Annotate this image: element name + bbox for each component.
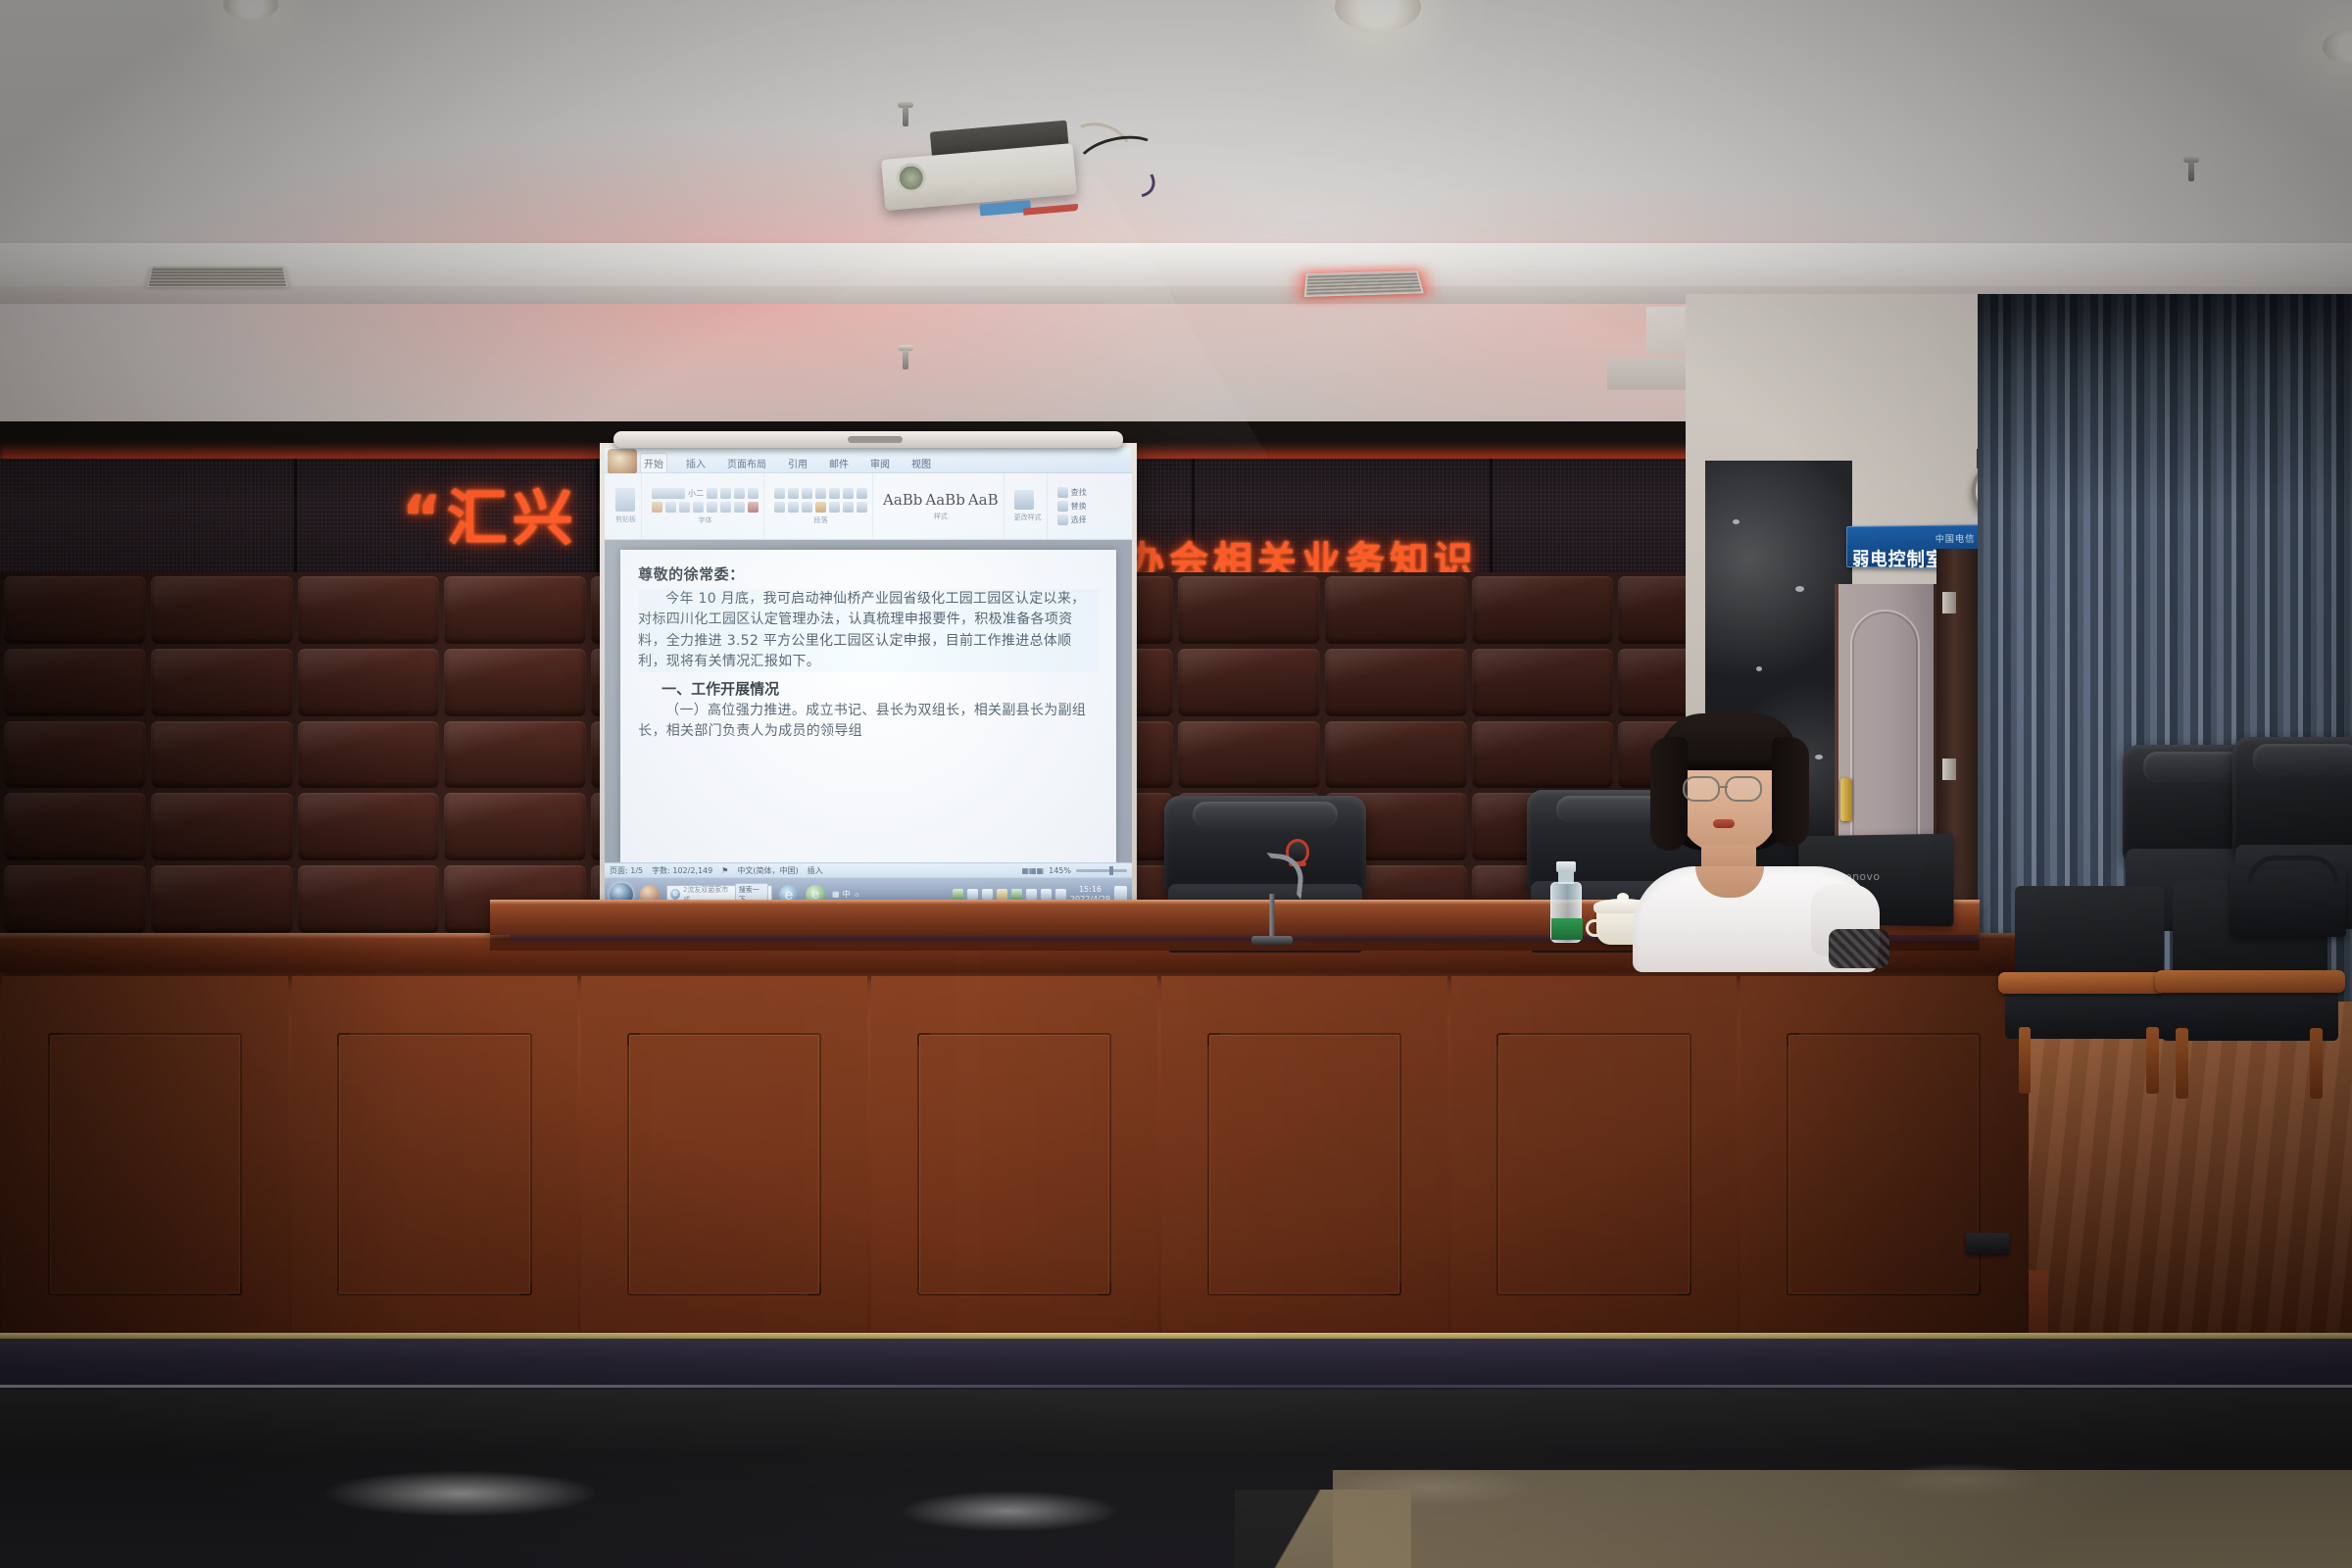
antivirus-icon[interactable] xyxy=(1011,889,1022,900)
projector-lens xyxy=(896,162,928,194)
dais-panel xyxy=(1161,976,1447,1331)
change-styles-row[interactable] xyxy=(1014,490,1042,510)
leather-panel xyxy=(444,793,586,860)
curtain-left-fold xyxy=(1958,372,1997,980)
dais-panel xyxy=(1451,976,1738,1331)
paragraph-bottom-row[interactable] xyxy=(774,502,867,513)
font-size-value[interactable]: 小二 xyxy=(688,488,704,499)
fire-sprinkler-head xyxy=(898,102,913,127)
sort-icon[interactable] xyxy=(843,488,854,499)
document-fade-overlay xyxy=(620,817,1116,862)
battery-icon[interactable] xyxy=(953,889,963,900)
marble-fleck xyxy=(1756,666,1762,671)
replace-row[interactable]: 替换 xyxy=(1057,501,1087,512)
armchair-wooden-armrest xyxy=(1998,972,2180,994)
group-label-clipboard: 剪贴板 xyxy=(615,514,636,524)
ie-small-icon: e xyxy=(670,889,680,900)
eyeglasses-left-lens xyxy=(1683,776,1720,802)
leather-panel xyxy=(1178,649,1320,716)
align-left-icon[interactable] xyxy=(774,502,785,513)
grow-font-icon[interactable] xyxy=(707,488,717,499)
leather-panel xyxy=(444,649,586,716)
projected-image: 开始 插入 页面布局 引用 邮件 审阅 视图 剪贴板 xyxy=(605,448,1132,910)
hvac-vent-grille xyxy=(1304,270,1424,297)
ribbon-group-styles: AaBb AaBb AaB 样式 xyxy=(878,473,1004,539)
change-styles-icon[interactable] xyxy=(1014,490,1034,510)
projection-screen-roller xyxy=(613,431,1123,448)
document-heading-1: 一、工作开展情况 xyxy=(661,678,1099,699)
leather-panel xyxy=(4,865,146,933)
leather-panel xyxy=(298,721,440,789)
status-zoom-level[interactable]: 145% xyxy=(1049,866,1071,875)
ribbon-tab-home[interactable]: 开始 xyxy=(640,453,667,472)
document-salutation: 尊敬的徐常委： xyxy=(638,563,1099,584)
text-highlight-icon[interactable] xyxy=(734,502,745,513)
leather-panel xyxy=(1472,649,1614,716)
change-case-icon[interactable] xyxy=(734,488,745,499)
ribbon-group-editing: 查找 替换 选择 xyxy=(1053,473,1092,539)
find-row[interactable]: 查找 xyxy=(1057,487,1087,498)
marble-fleck xyxy=(1795,586,1804,592)
led-panel-seam xyxy=(1490,459,1493,574)
status-language[interactable]: 中文(简体，中国) xyxy=(737,865,798,876)
group-label-font: 字体 xyxy=(652,515,759,525)
projection-screen: 开始 插入 页面布局 引用 邮件 审阅 视图 剪贴板 xyxy=(600,443,1137,915)
water-bottle[interactable] xyxy=(1550,862,1582,943)
ime-icon[interactable]: ▦ xyxy=(832,890,840,899)
ribbon-group-clipboard: 剪贴板 xyxy=(611,473,642,539)
ime-mode-indicator[interactable]: 中 xyxy=(843,889,851,900)
italic-icon[interactable] xyxy=(665,502,676,513)
status-view-controls: ▦▦▦ 145% xyxy=(1021,866,1127,875)
leather-panel xyxy=(1325,649,1467,716)
leather-panel xyxy=(4,649,146,716)
bullet-list-icon[interactable] xyxy=(774,488,785,499)
chair-backrest xyxy=(2232,737,2352,857)
status-page-number[interactable]: 页面: 1/5 xyxy=(610,865,643,876)
panel-inset xyxy=(917,1033,1111,1296)
font-name-box-icon[interactable] xyxy=(652,488,685,499)
replace-label[interactable]: 替换 xyxy=(1071,501,1087,512)
chair-headrest xyxy=(1193,802,1338,827)
subscript-icon[interactable] xyxy=(707,502,717,513)
style-normal[interactable]: AaBb xyxy=(883,491,922,509)
bottle-body xyxy=(1550,882,1582,943)
lips xyxy=(1713,819,1735,828)
panel-inset xyxy=(1496,1033,1690,1296)
justify-icon[interactable] xyxy=(815,502,826,513)
underline-icon[interactable] xyxy=(679,502,690,513)
leather-panel xyxy=(298,793,440,860)
fire-sprinkler-head xyxy=(2183,157,2199,182)
multilevel-list-icon[interactable] xyxy=(802,488,812,499)
align-center-icon[interactable] xyxy=(788,502,799,513)
group-label-styles: 样式 xyxy=(883,512,999,521)
led-panel-seam xyxy=(294,459,297,574)
network-icon[interactable] xyxy=(967,889,978,900)
superscript-icon[interactable] xyxy=(720,502,731,513)
armchair-leg xyxy=(2176,1028,2188,1098)
leather-panel xyxy=(151,649,293,716)
leather-panel xyxy=(1178,721,1320,789)
marble-fleck xyxy=(1733,519,1739,524)
word-application-window: 开始 插入 页面布局 引用 邮件 审阅 视图 剪贴板 xyxy=(605,448,1132,910)
font-top-row[interactable]: 小二 xyxy=(652,488,759,499)
group-label-paragraph: 段落 xyxy=(774,515,867,525)
armchair-leg xyxy=(2019,1027,2031,1094)
select-row[interactable]: 选择 xyxy=(1057,514,1087,525)
borders-icon[interactable] xyxy=(857,502,867,513)
office-orb-icon[interactable] xyxy=(608,449,637,474)
ceiling-soffit-upper xyxy=(0,243,2352,288)
proofing-icon[interactable]: ⚑ xyxy=(721,866,728,875)
clear-formatting-icon[interactable] xyxy=(748,488,759,499)
female-presenter xyxy=(1586,711,1919,966)
font-color-icon[interactable] xyxy=(748,502,759,513)
leather-panel xyxy=(1472,576,1614,644)
numbered-list-icon[interactable] xyxy=(788,488,799,499)
clock-time: 15:16 xyxy=(1070,885,1110,895)
microphone-stem xyxy=(1270,894,1275,939)
hair-right-side xyxy=(1772,737,1809,847)
paragraph-top-row[interactable] xyxy=(774,488,867,499)
chair-headrest xyxy=(2253,744,2352,775)
gooseneck-microphone-left[interactable] xyxy=(1243,831,1301,945)
door-hinge xyxy=(1942,759,1956,780)
ime-language-bar[interactable]: ▦ 中 ☼ xyxy=(832,889,860,900)
power-adapter-brick xyxy=(1966,1233,2009,1254)
line-spacing-icon[interactable] xyxy=(829,502,840,513)
conference-room-photo: “汇兴 训班 办会相关业务知识 中国电信 弱电控制室 xyxy=(0,0,2352,1568)
leather-panel xyxy=(298,576,440,644)
armchair-leg xyxy=(2146,1027,2158,1094)
panel-inset xyxy=(48,1033,242,1296)
paste-icon[interactable] xyxy=(615,488,635,512)
bottle-cap[interactable] xyxy=(1556,861,1576,872)
leather-panel xyxy=(151,865,293,933)
find-icon[interactable] xyxy=(1057,487,1068,498)
hvac-vent-grille xyxy=(147,267,289,287)
bold-icon[interactable] xyxy=(652,502,662,513)
microphone-base xyxy=(1251,936,1293,945)
dais-panel xyxy=(871,976,1157,1331)
status-word-count[interactable]: 字数: 102/2,149 xyxy=(652,865,712,876)
clipboard-paste-row[interactable] xyxy=(615,488,636,512)
increase-indent-icon[interactable] xyxy=(829,488,840,499)
panel-inset xyxy=(1207,1033,1401,1296)
select-icon[interactable] xyxy=(1057,514,1068,525)
ribbon-tab-mailings[interactable]: 邮件 xyxy=(826,454,852,472)
replace-icon[interactable] xyxy=(1057,501,1068,512)
align-right-icon[interactable] xyxy=(802,502,812,513)
dais-panel xyxy=(581,976,867,1331)
document-paragraph-1: 今年 10 月底，我可启动神仙桥产业园省级化工园工园区认定以来，对标四川化工园区… xyxy=(638,589,1099,672)
dais-front-panels xyxy=(0,976,2029,1331)
leather-panel xyxy=(1325,576,1467,644)
strikethrough-icon[interactable] xyxy=(693,502,704,513)
ribbon-toolbar: 剪贴板 小二 xyxy=(605,473,1132,540)
armchair-wooden-armrest xyxy=(2155,970,2345,993)
dais-panel xyxy=(2,976,288,1331)
leather-panel xyxy=(4,793,146,860)
font-bottom-row[interactable] xyxy=(652,502,759,513)
dais-panel xyxy=(292,976,578,1331)
panel-inset xyxy=(337,1033,531,1296)
door-hinge xyxy=(1942,592,1956,613)
word-status-bar: 页面: 1/5 字数: 102/2,149 ⚑ 中文(简体，中国) 插入 ▦▦▦… xyxy=(605,862,1132,877)
decrease-indent-icon[interactable] xyxy=(815,488,826,499)
styles-gallery-row[interactable]: AaBb AaBb AaB xyxy=(883,491,999,509)
leather-panel xyxy=(298,649,440,716)
warning-icon[interactable] xyxy=(997,889,1007,900)
select-label[interactable]: 选择 xyxy=(1071,514,1087,525)
bottle-neck xyxy=(1558,870,1574,884)
panel-inset xyxy=(627,1033,821,1296)
laptop-bag-on-chair[interactable] xyxy=(2230,868,2346,937)
ribbon-tab-page-layout[interactable]: 页面布局 xyxy=(724,454,769,472)
document-paragraph-2: （一）高位强力推进。成立书记、县长为双组长，相关副县长为副组长，相关部门负责人为… xyxy=(638,701,1099,742)
ribbon-tab-view[interactable]: 视图 xyxy=(908,454,934,472)
view-layout-icons[interactable]: ▦▦▦ xyxy=(1021,866,1044,875)
leather-panel xyxy=(151,721,293,789)
ribbon-group-change-styles: 更改样式 xyxy=(1009,473,1048,539)
show-marks-icon[interactable] xyxy=(857,488,867,499)
display-icon[interactable] xyxy=(982,889,993,900)
panel-inset xyxy=(1787,1033,1981,1296)
ribbon-tab-bar: 开始 插入 页面布局 引用 邮件 审阅 视图 xyxy=(605,448,1132,473)
leather-panel xyxy=(4,721,146,789)
sign-text: 弱电控制室 xyxy=(1852,545,1945,571)
granite-step-band xyxy=(0,1339,2352,1390)
lace-arm-sleeve xyxy=(1829,929,1889,968)
zoom-slider[interactable] xyxy=(1076,869,1127,872)
bluetooth-icon[interactable] xyxy=(1055,889,1066,900)
status-insert-mode[interactable]: 插入 xyxy=(808,865,823,876)
find-label[interactable]: 查找 xyxy=(1071,487,1087,498)
leather-panel xyxy=(444,576,586,644)
leather-panel xyxy=(151,576,293,644)
ribbon-tab-review[interactable]: 审阅 xyxy=(867,454,893,472)
leather-panel xyxy=(1178,576,1320,644)
style-no-spacing[interactable]: AaBb xyxy=(925,491,964,509)
style-heading1[interactable]: AaB xyxy=(968,491,999,509)
leather-panel xyxy=(444,721,586,789)
ribbon-tab-references[interactable]: 引用 xyxy=(785,454,810,472)
volume-icon[interactable] xyxy=(1026,889,1037,900)
dais-panel xyxy=(1740,976,2027,1331)
wooden-armchair-1[interactable] xyxy=(2005,886,2174,1082)
ribbon-group-font: 小二 xyxy=(647,473,764,539)
leather-panel xyxy=(4,576,146,644)
ime-tools-icon[interactable]: ☼ xyxy=(854,890,860,899)
hair-left-side xyxy=(1650,737,1688,851)
eyeglasses-bridge xyxy=(1720,786,1728,788)
leather-panel xyxy=(1325,721,1467,789)
shrink-font-icon[interactable] xyxy=(720,488,731,499)
armchair-leg xyxy=(2310,1028,2323,1098)
tan-floor-tiles xyxy=(1333,1470,2352,1568)
fire-sprinkler-head xyxy=(898,345,913,370)
leather-panel xyxy=(298,865,440,933)
ribbon-tab-insert[interactable]: 插入 xyxy=(683,454,709,472)
leather-panel xyxy=(151,793,293,860)
sync-icon[interactable] xyxy=(1041,889,1052,900)
eyeglasses-right-lens xyxy=(1725,776,1762,802)
ribbon-group-paragraph: 段落 xyxy=(769,473,873,539)
bottle-label xyxy=(1551,918,1583,940)
document-page[interactable]: 尊敬的徐常委： 今年 10 月底，我可启动神仙桥产业园省级化工园工园区认定以来，… xyxy=(620,550,1116,862)
shading-icon[interactable] xyxy=(843,502,854,513)
document-canvas[interactable]: 尊敬的徐常委： 今年 10 月底，我可启动神仙桥产业园省级化工园工园区认定以来，… xyxy=(605,540,1132,862)
change-styles-label: 更改样式 xyxy=(1014,513,1042,522)
